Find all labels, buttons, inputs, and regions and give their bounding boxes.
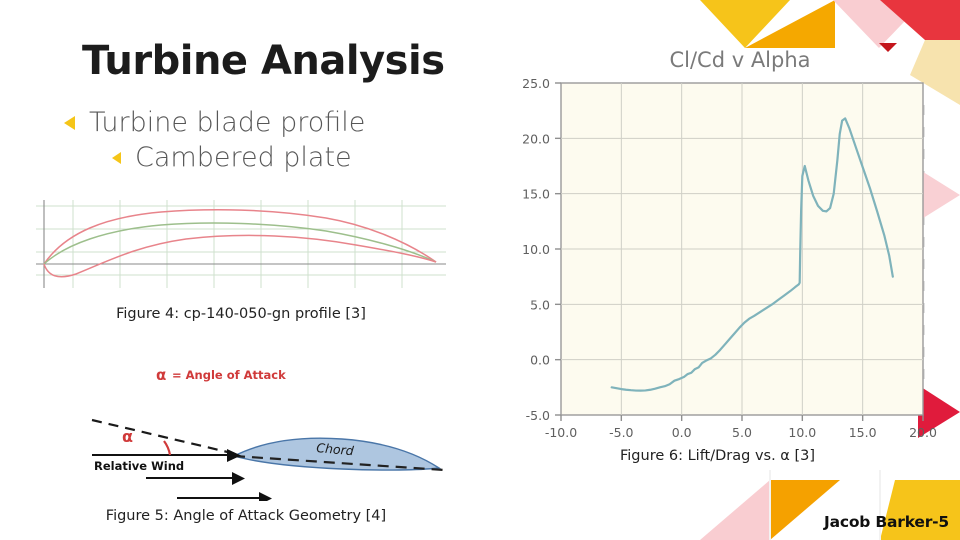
upper-reference-dashed-line <box>92 420 236 454</box>
x-axis-tick-label: 5.0 <box>732 425 752 440</box>
x-axis-tick-label: 20.0 <box>909 425 937 440</box>
figure-6-caption: Figure 6: Lift/Drag vs. α [3] <box>500 448 935 464</box>
y-axis-tick-label: 25.0 <box>522 76 550 91</box>
alpha-angle-symbol: α <box>122 427 133 446</box>
bullet-item-level-2: Cambered plate <box>112 142 352 173</box>
flow-arrow-head-2 <box>232 472 245 485</box>
x-axis-tick-label: 0.0 <box>672 425 692 440</box>
chart-title: Cl/Cd v Alpha <box>560 48 920 72</box>
y-axis-tick-label: -5.0 <box>526 408 550 423</box>
deco-triangle-orange-bottom <box>770 480 840 540</box>
angle-of-attack-legend-text: = Angle of Attack <box>172 368 286 382</box>
page-title: Turbine Analysis <box>82 38 445 84</box>
deco-triangle-gold-1 <box>700 0 790 48</box>
angle-of-attack-svg: α = Angle of Attack Chord Relative Wind … <box>84 356 474 501</box>
airfoil-profile-svg <box>36 196 446 291</box>
figure-5-caption: Figure 5: Angle of Attack Geometry [4] <box>36 508 456 524</box>
cl-cd-vs-alpha-plot: -5.00.05.010.015.020.025.0-10.0-5.00.05.… <box>505 45 940 440</box>
x-axis-tick-label: 10.0 <box>788 425 816 440</box>
y-axis-tick-label: 0.0 <box>530 353 550 368</box>
x-axis-tick-label: -10.0 <box>545 425 577 440</box>
figure-4-caption: Figure 4: cp-140-050-gn profile [3] <box>36 306 446 322</box>
deco-triangle-amber-2 <box>745 0 835 48</box>
figure-4-airfoil-profile <box>36 196 446 291</box>
deco-triangle-red-5 <box>880 0 960 40</box>
relative-wind-label: Relative Wind <box>94 459 184 473</box>
flow-arrow-head-3 <box>259 492 272 501</box>
bullet-item-level-1: Turbine blade profile <box>64 107 365 138</box>
figure-5-angle-of-attack: α = Angle of Attack Chord Relative Wind … <box>84 356 474 501</box>
bullet-label-cambered-plate: Cambered plate <box>135 142 352 173</box>
alpha-angle-arc <box>164 441 170 455</box>
x-axis: -10.0-5.00.05.010.015.020.0 <box>545 415 937 440</box>
y-axis-tick-label: 20.0 <box>522 131 550 146</box>
y-axis-tick-label: 5.0 <box>530 297 550 312</box>
airfoil-upper-surface <box>44 210 436 264</box>
x-axis-tick-label: 15.0 <box>849 425 877 440</box>
relative-wind-arrowhead <box>227 449 241 462</box>
figure-6-chart: Cl/Cd v Alpha -5.00.05.010.015.020.025.0… <box>505 45 940 440</box>
deco-triangle-gold-bottom <box>880 480 960 540</box>
y-axis-tick-label: 10.0 <box>522 242 550 257</box>
bullet-label-turbine-blade-profile: Turbine blade profile <box>89 107 365 138</box>
triangle-left-icon <box>64 116 75 130</box>
deco-triangle-pink-bottom <box>700 480 770 540</box>
y-axis-tick-label: 15.0 <box>522 187 550 202</box>
footer-author: Jacob Barker-5 <box>824 513 949 531</box>
x-axis-tick-label: -5.0 <box>609 425 633 440</box>
alpha-symbol-legend: α <box>156 366 166 384</box>
triangle-left-icon <box>112 152 121 164</box>
deco-triangle-pink-4 <box>833 0 925 48</box>
slide-root: Turbine Analysis Turbine blade profile C… <box>0 0 960 540</box>
y-axis: -5.00.05.010.015.020.025.0 <box>522 76 561 423</box>
